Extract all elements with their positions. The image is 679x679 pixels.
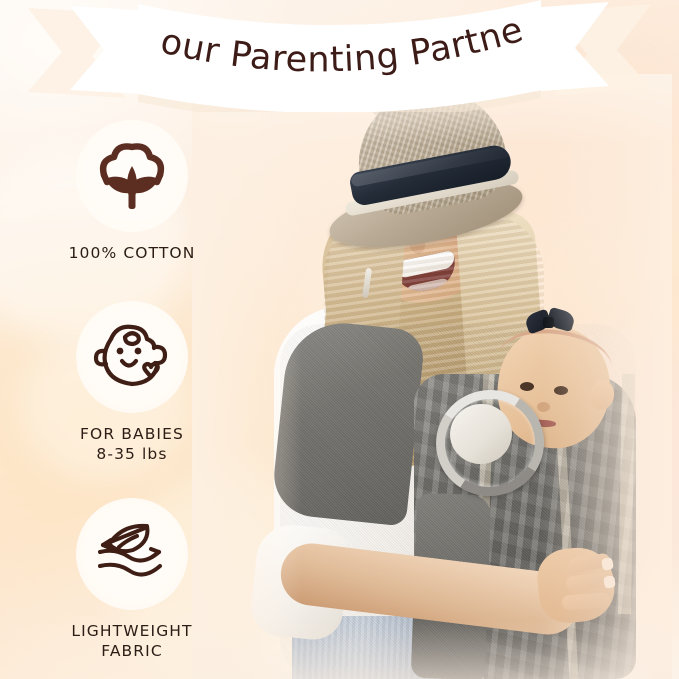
baby-face-icon	[89, 317, 175, 397]
feature-badge-babies: FOR BABIES 8-35 lbs	[52, 301, 212, 465]
badge-circle	[76, 301, 188, 413]
ribbon-shape	[0, 0, 679, 112]
photo-edge-blend	[542, 74, 672, 679]
feature-label-babies: FOR BABIES 8-35 lbs	[52, 424, 212, 465]
feature-badge-fabric: LIGHTWEIGHT FABRIC	[52, 498, 212, 662]
feature-label-cotton: 100% COTTON	[52, 243, 212, 263]
feature-label-fabric: LIGHTWEIGHT FABRIC	[52, 621, 212, 662]
badge-circle	[76, 498, 188, 610]
product-feature-poster: Your Parenting Partner 100% COTTON	[0, 0, 679, 679]
feature-badge-cotton: 100% COTTON	[52, 120, 212, 263]
mother-and-baby-photo	[232, 74, 632, 679]
photo-edge-blend	[192, 619, 672, 679]
ribbon-main-band	[138, 0, 541, 112]
badge-circle	[76, 120, 188, 232]
cotton-boll-icon	[91, 135, 173, 217]
feather-fabric-icon	[89, 518, 175, 590]
ribbon-banner: Your Parenting Partner	[0, 0, 679, 112]
